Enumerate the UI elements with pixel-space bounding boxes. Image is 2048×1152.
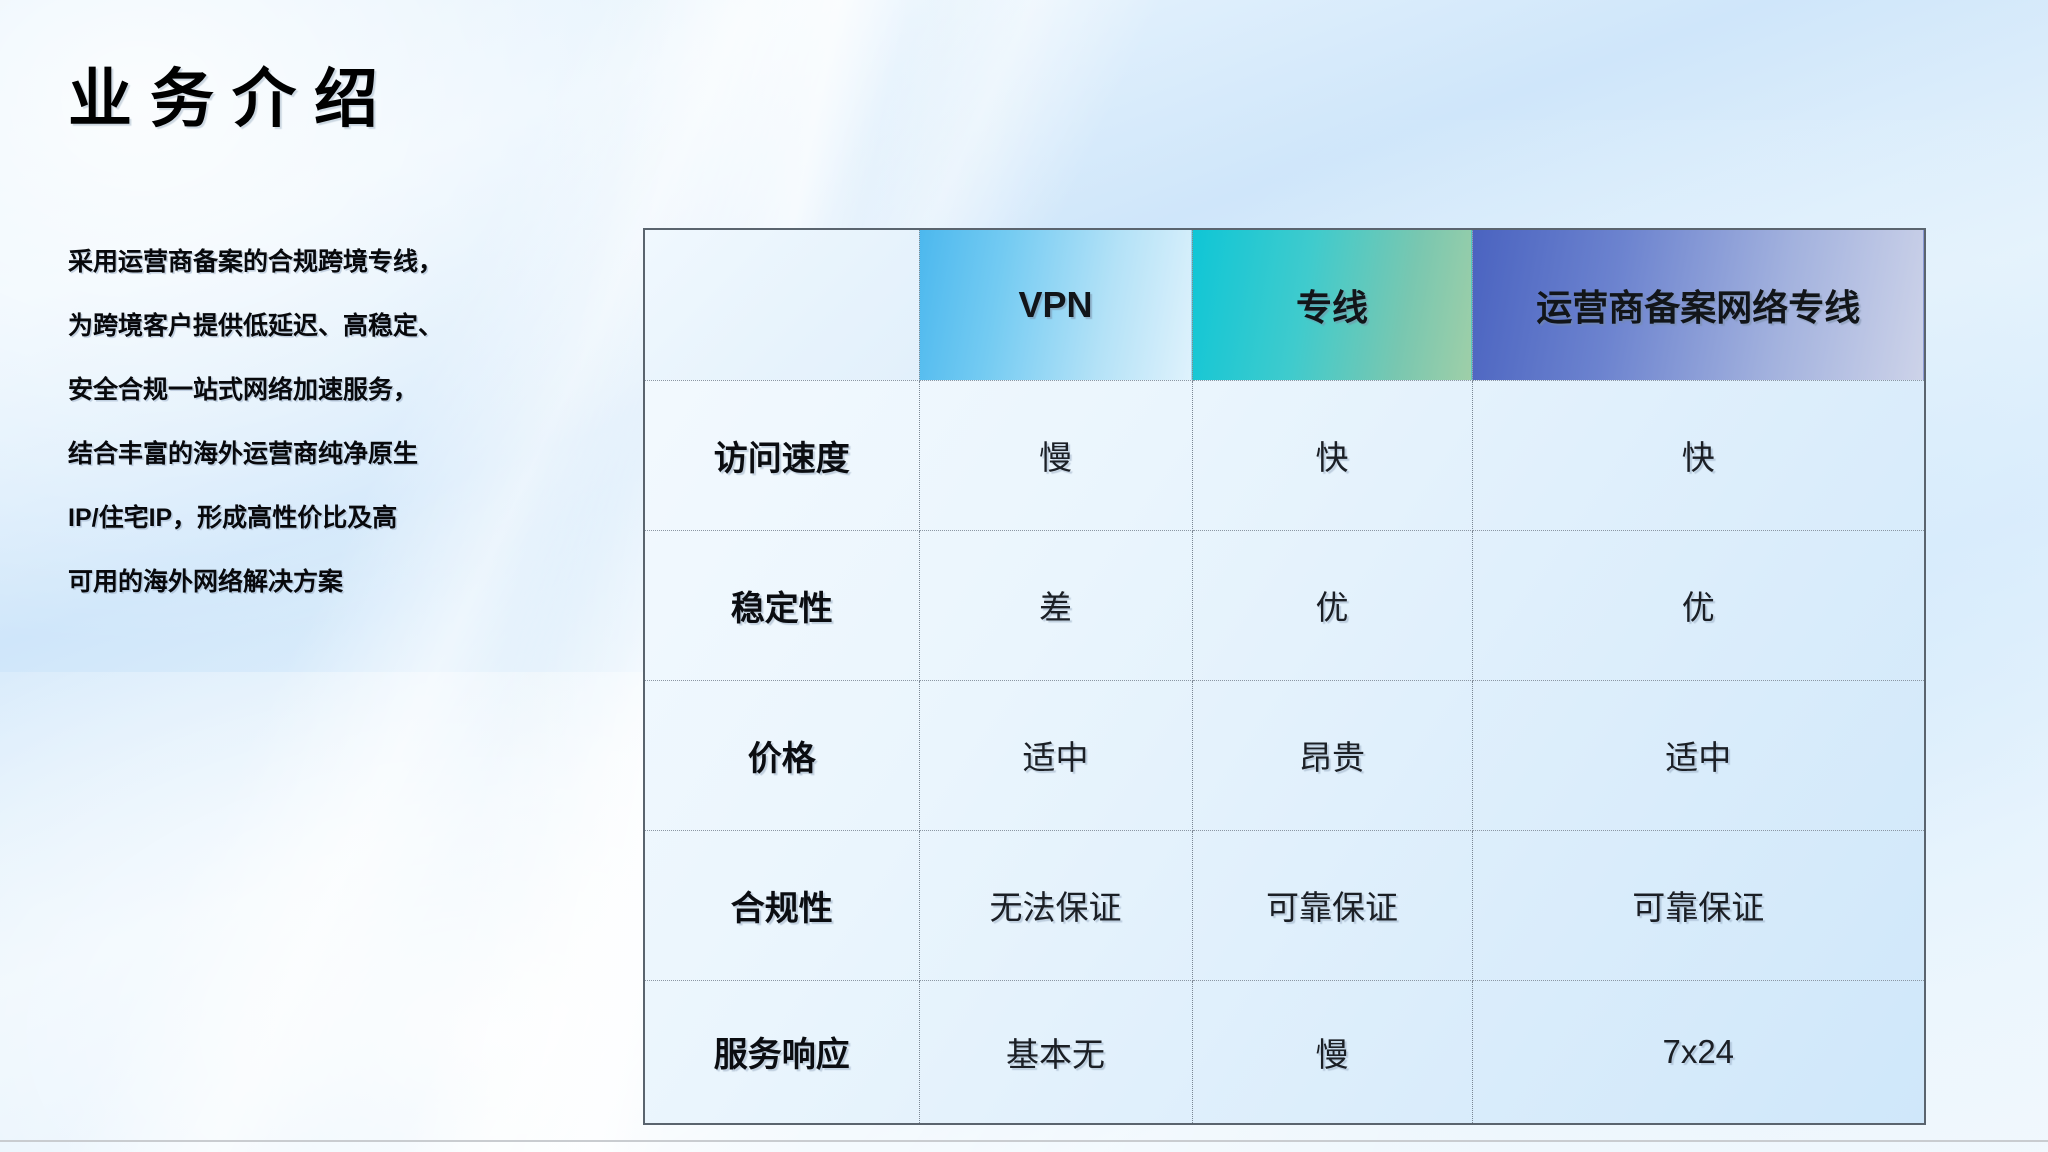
cell-support-vpn: 基本无 bbox=[919, 980, 1192, 1123]
intro-line: 可用的海外网络解决方案 bbox=[68, 550, 668, 614]
cell-speed-line: 快 bbox=[1192, 380, 1472, 530]
row-label-price: 价格 bbox=[645, 680, 919, 830]
page-title: 业务介绍 bbox=[68, 64, 396, 134]
cell-compliance-vpn: 无法保证 bbox=[919, 830, 1192, 980]
table-row: 服务响应 基本无 慢 7x24 bbox=[645, 980, 1924, 1123]
intro-line: 采用运营商备案的合规跨境专线， bbox=[68, 230, 668, 294]
comparison-table: VPN 专线 运营商备案网络专线 访问速度 慢 快 快 稳定性 差 优 优 bbox=[643, 228, 1926, 1125]
table-header: VPN 专线 运营商备案网络专线 bbox=[645, 230, 1924, 380]
cell-support-filed: 7x24 bbox=[1472, 980, 1924, 1123]
table-row: 价格 适中 昂贵 适中 bbox=[645, 680, 1924, 830]
table-row: 合规性 无法保证 可靠保证 可靠保证 bbox=[645, 830, 1924, 980]
cell-speed-vpn: 慢 bbox=[919, 380, 1192, 530]
table-row: 稳定性 差 优 优 bbox=[645, 530, 1924, 680]
bottom-divider bbox=[0, 1140, 2048, 1142]
cell-stability-vpn: 差 bbox=[919, 530, 1192, 680]
table-header-corner bbox=[645, 230, 919, 380]
row-label-stability: 稳定性 bbox=[645, 530, 919, 680]
cell-support-line: 慢 bbox=[1192, 980, 1472, 1123]
table-body: 访问速度 慢 快 快 稳定性 差 优 优 价格 适中 昂贵 适中 bbox=[645, 380, 1924, 1123]
table-header-line: 专线 bbox=[1192, 230, 1472, 380]
comparison-table-grid: VPN 专线 运营商备案网络专线 访问速度 慢 快 快 稳定性 差 优 优 bbox=[645, 230, 1924, 1123]
table-header-row: VPN 专线 运营商备案网络专线 bbox=[645, 230, 1924, 380]
intro-line: 安全合规一站式网络加速服务， bbox=[68, 358, 668, 422]
row-label-speed: 访问速度 bbox=[645, 380, 919, 530]
table-header-vpn: VPN bbox=[919, 230, 1192, 380]
cell-compliance-line: 可靠保证 bbox=[1192, 830, 1472, 980]
cell-stability-line: 优 bbox=[1192, 530, 1472, 680]
cell-price-filed: 适中 bbox=[1472, 680, 1924, 830]
slide-canvas: 业务介绍 采用运营商备案的合规跨境专线， 为跨境客户提供低延迟、高稳定、 安全合… bbox=[0, 0, 2048, 1152]
cell-price-line: 昂贵 bbox=[1192, 680, 1472, 830]
intro-line: 为跨境客户提供低延迟、高稳定、 bbox=[68, 294, 668, 358]
cell-price-vpn: 适中 bbox=[919, 680, 1192, 830]
cell-compliance-filed: 可靠保证 bbox=[1472, 830, 1924, 980]
row-label-compliance: 合规性 bbox=[645, 830, 919, 980]
intro-line: 结合丰富的海外运营商纯净原生 bbox=[68, 422, 668, 486]
intro-line: IP/住宅IP，形成高性价比及高 bbox=[68, 486, 668, 550]
table-header-filed: 运营商备案网络专线 bbox=[1472, 230, 1924, 380]
cell-stability-filed: 优 bbox=[1472, 530, 1924, 680]
intro-paragraph: 采用运营商备案的合规跨境专线， 为跨境客户提供低延迟、高稳定、 安全合规一站式网… bbox=[68, 230, 668, 614]
row-label-support: 服务响应 bbox=[645, 980, 919, 1123]
table-row: 访问速度 慢 快 快 bbox=[645, 380, 1924, 530]
cell-speed-filed: 快 bbox=[1472, 380, 1924, 530]
